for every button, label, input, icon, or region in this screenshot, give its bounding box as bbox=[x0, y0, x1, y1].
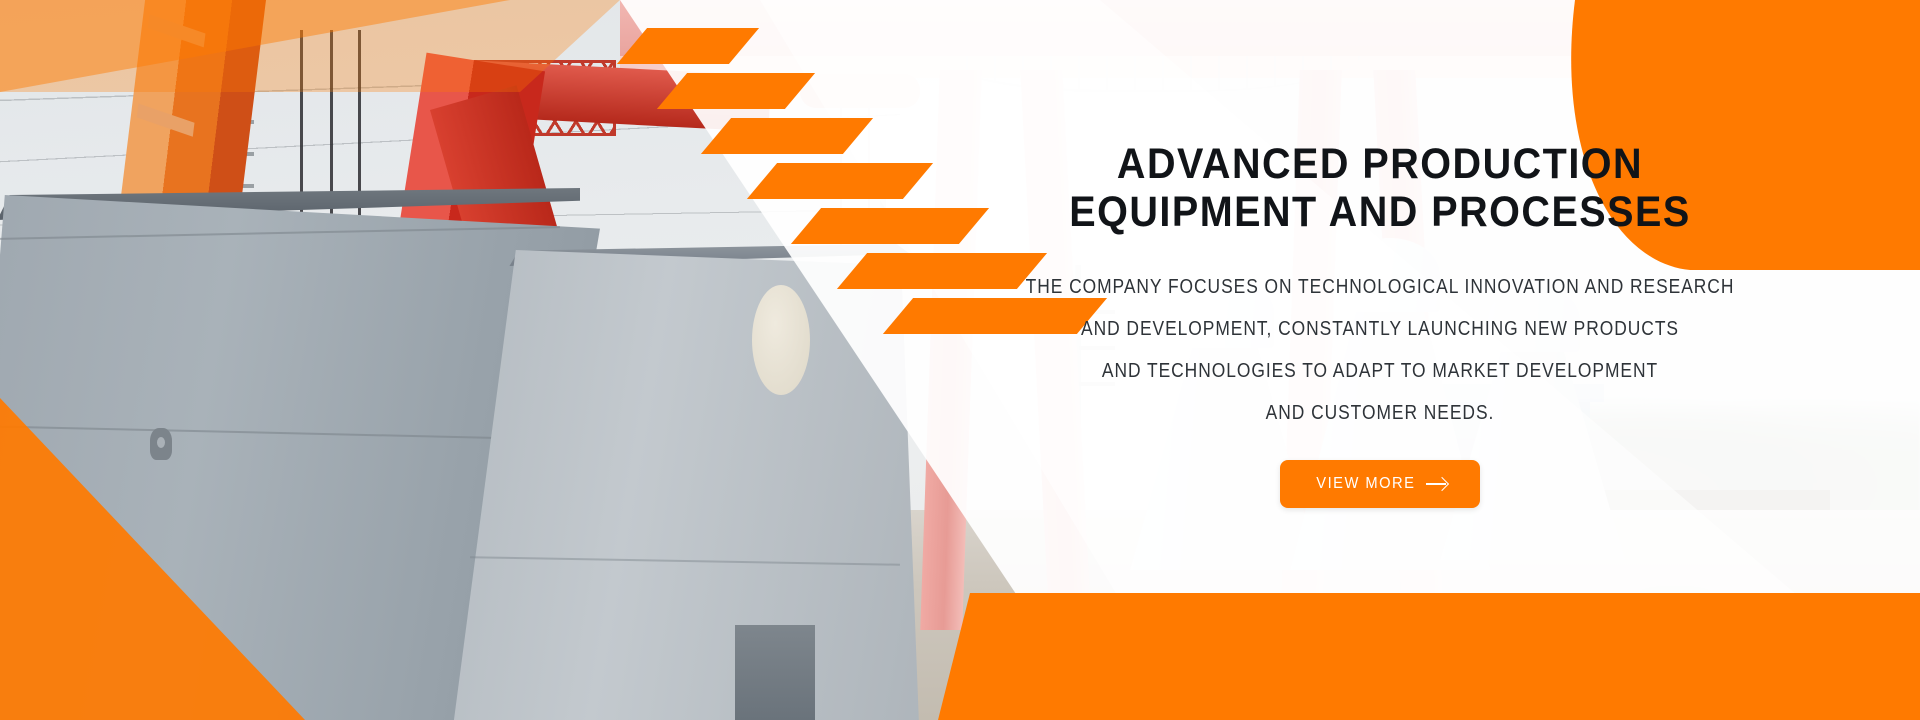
body-line-1: THE COMPANY FOCUSES ON TECHNOLOGICAL INN… bbox=[1019, 266, 1741, 308]
headline-line-2: EQUIPMENT AND PROCESSES bbox=[984, 188, 1775, 236]
body-line-3: AND TECHNOLOGIES TO ADAPT TO MARKET DEVE… bbox=[1019, 350, 1741, 392]
headline-line-1: ADVANCED PRODUCTION bbox=[984, 140, 1775, 188]
arrow-right-icon bbox=[1426, 477, 1448, 491]
page-title: ADVANCED PRODUCTION EQUIPMENT AND PROCES… bbox=[984, 140, 1775, 236]
body-line-2: AND DEVELOPMENT, CONSTANTLY LAUNCHING NE… bbox=[1019, 308, 1741, 350]
view-more-button[interactable]: VIEW MORE bbox=[1280, 460, 1480, 508]
tank-manhole bbox=[752, 285, 810, 395]
view-more-label: VIEW MORE bbox=[1316, 475, 1415, 493]
hero-description: THE COMPANY FOCUSES ON TECHNOLOGICAL INN… bbox=[1019, 266, 1741, 434]
tank-lug bbox=[150, 428, 172, 460]
cta-container: VIEW MORE bbox=[950, 460, 1810, 508]
hero-banner: ADVANCED PRODUCTION EQUIPMENT AND PROCES… bbox=[0, 0, 1920, 720]
decor-stripe bbox=[747, 163, 933, 199]
decor-stripe bbox=[701, 118, 873, 154]
tank-base-plate bbox=[735, 625, 815, 720]
body-line-4: AND CUSTOMER NEEDS. bbox=[1019, 392, 1741, 434]
hero-content: ADVANCED PRODUCTION EQUIPMENT AND PROCES… bbox=[950, 140, 1810, 508]
